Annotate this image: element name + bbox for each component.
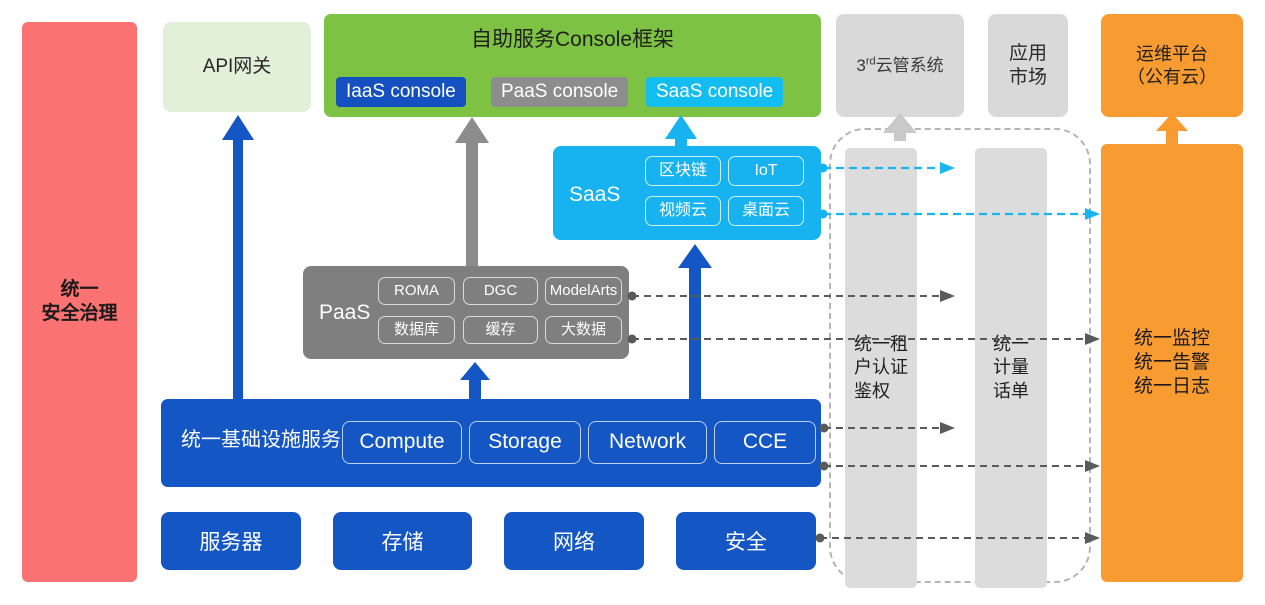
arrow-paas-to-console bbox=[455, 117, 489, 266]
third-party-prefix: 3 bbox=[856, 56, 865, 75]
paas-chip-roma[interactable]: ROMA bbox=[378, 277, 455, 305]
auth-line1: 统一租 bbox=[854, 333, 908, 356]
hardware-box-security[interactable]: 安全 bbox=[676, 512, 816, 570]
paas-chip-modelarts[interactable]: ModelArts bbox=[545, 277, 622, 305]
paas-console-chip[interactable]: PaaS console bbox=[491, 77, 628, 107]
infra-chip-cce[interactable]: CCE bbox=[714, 421, 816, 464]
infra-chip-storage[interactable]: Storage bbox=[469, 421, 581, 464]
unified-security-governance-panel: 统一 安全治理 bbox=[22, 22, 137, 582]
third-party-suffix: 云管系统 bbox=[876, 56, 944, 75]
monitoring-line3: 统一日志 bbox=[1134, 375, 1210, 399]
saas-block: SaaS 区块链 IoT 视频云 桌面云 bbox=[553, 146, 821, 240]
hardware-box-server[interactable]: 服务器 bbox=[161, 512, 301, 570]
paas-chip-database[interactable]: 数据库 bbox=[378, 316, 455, 344]
architecture-diagram: 统一 安全治理 API网关 自助服务Console框架 IaaS console… bbox=[0, 0, 1265, 605]
saas-chip-video-cloud[interactable]: 视频云 bbox=[645, 196, 721, 226]
auth-line2: 户认证 bbox=[854, 356, 908, 379]
ops-platform-box: 运维平台 （公有云） bbox=[1101, 14, 1243, 117]
console-framework-box: 自助服务Console框架 IaaS console PaaS console … bbox=[324, 14, 821, 117]
ops-platform-line2: （公有云） bbox=[1127, 66, 1217, 89]
console-framework-title: 自助服务Console框架 bbox=[324, 27, 821, 53]
api-gateway-label: API网关 bbox=[203, 55, 272, 79]
unified-metering-billing-column: 统一 计量 话单 bbox=[975, 148, 1047, 588]
monitoring-line1: 统一监控 bbox=[1134, 327, 1210, 351]
infra-chip-compute[interactable]: Compute bbox=[342, 421, 462, 464]
billing-line3: 话单 bbox=[993, 380, 1029, 403]
third-party-superscript: rd bbox=[866, 55, 876, 67]
paas-chip-dgc[interactable]: DGC bbox=[463, 277, 538, 305]
paas-chip-cache[interactable]: 缓存 bbox=[463, 316, 538, 344]
paas-label: PaaS bbox=[319, 300, 370, 326]
saas-chip-desktop-cloud[interactable]: 桌面云 bbox=[728, 196, 804, 226]
unified-infrastructure-service-bar: 统一基础设施服务 Compute Storage Network CCE bbox=[161, 399, 821, 487]
security-panel-line1: 统一 bbox=[41, 278, 117, 302]
iaas-console-chip[interactable]: IaaS console bbox=[336, 77, 466, 107]
infrastructure-label: 统一基础设施服务 bbox=[181, 428, 341, 453]
hardware-box-storage[interactable]: 存储 bbox=[333, 512, 472, 570]
third-party-label: 3rd云管系统 bbox=[856, 55, 943, 76]
security-panel-line2: 安全治理 bbox=[41, 302, 117, 326]
paas-block: PaaS ROMA DGC ModelArts 数据库 缓存 大数据 bbox=[303, 266, 629, 359]
saas-console-chip[interactable]: SaaS console bbox=[646, 77, 783, 107]
app-market-line2: 市场 bbox=[1009, 66, 1047, 90]
app-market-line1: 应用 bbox=[1009, 42, 1047, 66]
arrow-monitoring-to-ops-platform bbox=[1156, 113, 1188, 144]
unified-tenant-auth-column: 统一租 户认证 鉴权 bbox=[845, 148, 917, 588]
arrow-infra-to-api-gateway bbox=[222, 115, 254, 399]
api-gateway-box: API网关 bbox=[163, 22, 311, 112]
auth-line3: 鉴权 bbox=[854, 380, 908, 403]
billing-line2: 计量 bbox=[993, 356, 1029, 379]
app-market-box: 应用 市场 bbox=[988, 14, 1068, 117]
third-party-cloud-management-box: 3rd云管系统 bbox=[836, 14, 964, 117]
unified-monitoring-panel: 统一监控 统一告警 统一日志 bbox=[1101, 144, 1243, 582]
ops-platform-line1: 运维平台 bbox=[1127, 43, 1217, 66]
hardware-box-network[interactable]: 网络 bbox=[504, 512, 644, 570]
arrow-infra-to-saas bbox=[678, 244, 712, 399]
billing-line1: 统一 bbox=[993, 333, 1029, 356]
saas-label: SaaS bbox=[569, 182, 620, 208]
monitoring-line2: 统一告警 bbox=[1134, 351, 1210, 375]
saas-chip-iot[interactable]: IoT bbox=[728, 156, 804, 186]
arrow-infra-to-paas bbox=[460, 362, 490, 399]
saas-chip-blockchain[interactable]: 区块链 bbox=[645, 156, 721, 186]
paas-chip-bigdata[interactable]: 大数据 bbox=[545, 316, 622, 344]
arrow-saas-to-console bbox=[665, 115, 697, 148]
infra-chip-network[interactable]: Network bbox=[588, 421, 707, 464]
